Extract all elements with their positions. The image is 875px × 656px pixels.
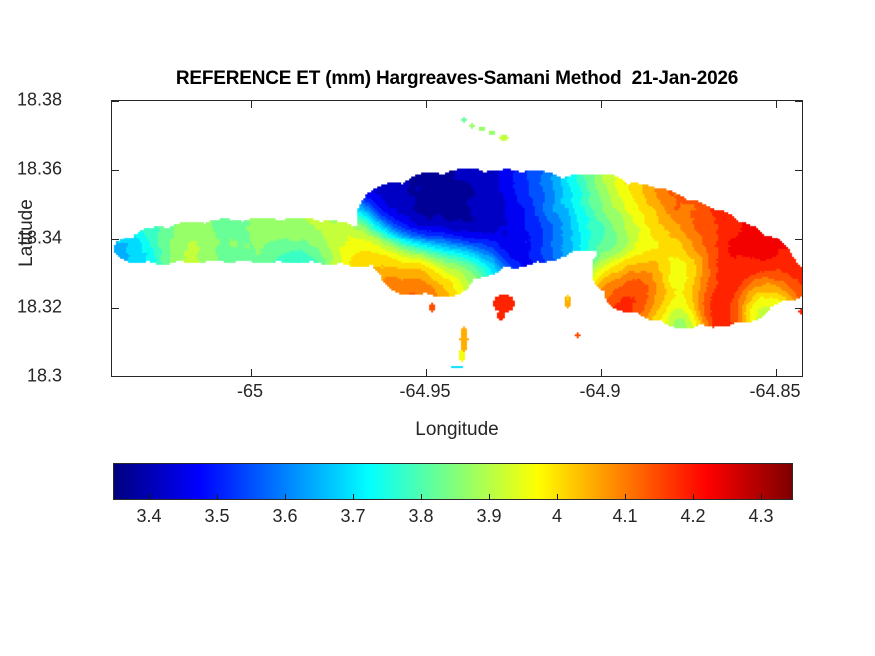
y-tick-mark xyxy=(112,308,119,309)
x-tick-mark-top xyxy=(601,101,602,108)
reference-et-heatmap xyxy=(112,101,802,376)
y-tick-label: 18.3 xyxy=(27,366,62,387)
colorbar-tick-label: 3.4 xyxy=(136,506,161,527)
x-tick-mark-top xyxy=(776,101,777,108)
x-tick-mark xyxy=(601,369,602,376)
map-axes xyxy=(111,100,803,377)
colorbar-tick-label: 4.1 xyxy=(612,506,637,527)
y-tick-label: 18.32 xyxy=(17,297,62,318)
colorbar-tick-label: 4.2 xyxy=(680,506,705,527)
x-tick-label: -64.95 xyxy=(399,381,450,402)
colorbar-gradient xyxy=(113,463,793,500)
y-tick-mark xyxy=(112,239,119,240)
x-tick-mark-top xyxy=(251,101,252,108)
y-tick-mark-right xyxy=(795,239,802,240)
y-tick-label: 18.38 xyxy=(17,90,62,111)
y-axis-label: Latitude xyxy=(16,183,38,283)
colorbar-tick xyxy=(217,494,218,500)
x-tick-label: -65 xyxy=(237,381,263,402)
colorbar-tick xyxy=(693,494,694,500)
colorbar-tick xyxy=(557,494,558,500)
y-tick-mark xyxy=(112,170,119,171)
x-tick-mark xyxy=(251,369,252,376)
colorbar-tick xyxy=(761,494,762,500)
x-tick-mark xyxy=(426,369,427,376)
colorbar-tick xyxy=(625,494,626,500)
page-title: REFERENCE ET (mm) Hargreaves-Samani Meth… xyxy=(111,68,803,90)
x-tick-label: -64.85 xyxy=(749,381,800,402)
colorbar-tick xyxy=(149,494,150,500)
y-tick-mark-right xyxy=(795,308,802,309)
x-tick-mark xyxy=(776,369,777,376)
colorbar-tick-label: 3.8 xyxy=(408,506,433,527)
x-tick-label: -64.9 xyxy=(579,381,620,402)
y-tick-mark-right xyxy=(795,170,802,171)
colorbar-tick-label: 4.3 xyxy=(748,506,773,527)
y-tick-label: 18.36 xyxy=(17,159,62,180)
colorbar-tick-label: 4 xyxy=(552,506,562,527)
colorbar-tick-label: 3.6 xyxy=(272,506,297,527)
colorbar-tick xyxy=(353,494,354,500)
colorbar xyxy=(113,463,793,500)
y-tick-mark xyxy=(112,101,119,102)
colorbar-tick xyxy=(489,494,490,500)
matlab-figure: REFERENCE ET (mm) Hargreaves-Samani Meth… xyxy=(0,0,875,656)
colorbar-tick xyxy=(421,494,422,500)
colorbar-tick xyxy=(285,494,286,500)
x-axis-label: Longitude xyxy=(111,419,803,441)
x-tick-mark-top xyxy=(426,101,427,108)
y-tick-mark-right xyxy=(795,101,802,102)
colorbar-tick-label: 3.9 xyxy=(476,506,501,527)
colorbar-tick-label: 3.7 xyxy=(340,506,365,527)
colorbar-tick-label: 3.5 xyxy=(204,506,229,527)
